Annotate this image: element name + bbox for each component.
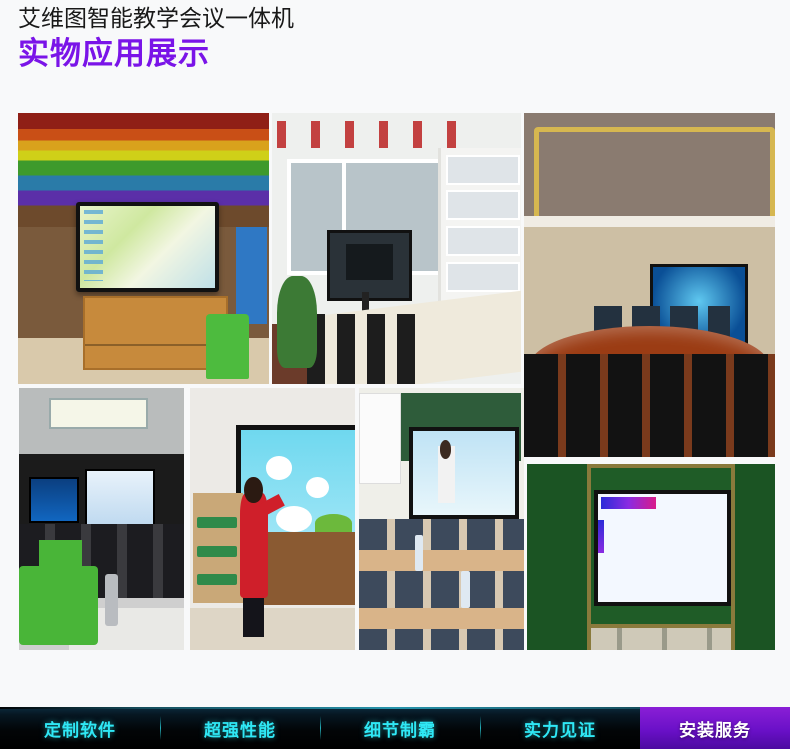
feature-label: 定制软件 xyxy=(44,716,116,741)
promo-page: 艾维图智能教学会议一体机 实物应用展示 xyxy=(0,0,790,749)
feature-item-performance[interactable]: 超强性能 xyxy=(160,707,320,749)
feature-item-proof[interactable]: 实力见证 xyxy=(480,707,640,749)
feature-label: 安装服务 xyxy=(679,716,751,741)
feature-item-installation-service[interactable]: 安装服务 xyxy=(640,707,790,749)
gallery-photo-classroom-blackboard xyxy=(527,464,775,650)
feature-label: 实力见证 xyxy=(524,716,596,741)
gallery-photo-training-room xyxy=(19,388,184,650)
photo-gallery xyxy=(0,0,790,700)
gallery-photo-kindergarten-classroom xyxy=(18,113,269,384)
feature-bar: 定制软件 超强性能 细节制霸 实力见证 安装服务 xyxy=(0,707,790,749)
feature-label: 超强性能 xyxy=(204,716,276,741)
feature-item-detail[interactable]: 细节制霸 xyxy=(320,707,480,749)
gallery-photo-child-touch-screen xyxy=(190,388,355,650)
feature-label: 细节制霸 xyxy=(364,716,436,741)
gallery-photo-conference-room xyxy=(524,113,775,457)
gallery-photo-lecture-audience xyxy=(359,388,524,650)
feature-item-custom-software[interactable]: 定制软件 xyxy=(0,707,160,749)
gallery-photo-reading-room xyxy=(272,113,521,384)
